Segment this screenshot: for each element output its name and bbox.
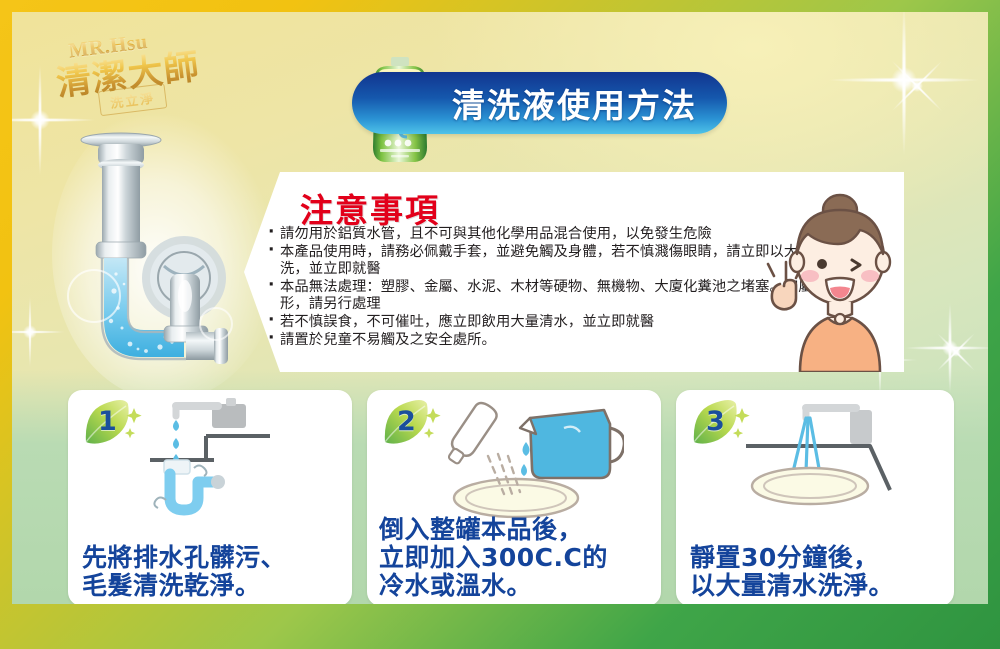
step-card-3[interactable]: 3 bbox=[676, 390, 954, 604]
step-card-1[interactable]: 1 bbox=[68, 390, 352, 604]
step-caption: 先將排水孔髒污、毛髮清洗乾淨。 bbox=[68, 544, 352, 600]
step-card-2[interactable]: 2 bbox=[367, 390, 661, 604]
steps-row: 1 bbox=[68, 390, 954, 604]
poster-root: MR.Hsu 清潔大師 洗立淨 bbox=[0, 0, 1000, 649]
pointing-woman-icon bbox=[764, 188, 914, 372]
p-trap-pipe-icon bbox=[64, 116, 269, 391]
step-caption: 倒入整罐本品後，立即加入300C.C的冷水或溫水。 bbox=[367, 516, 661, 600]
drain-faucet-icon bbox=[68, 394, 352, 524]
rinse-faucet-icon bbox=[676, 394, 954, 524]
banner-title: 清洗液使用方法 bbox=[352, 72, 727, 134]
poster-stage: MR.Hsu 清潔大師 洗立淨 bbox=[12, 12, 988, 604]
section-banner: 清洗液使用方法 bbox=[352, 72, 727, 134]
notice-title: 注意事項 bbox=[300, 184, 440, 232]
step-caption: 靜置30分鐘後，以大量清水洗淨。 bbox=[676, 544, 954, 600]
pour-bottle-pitcher-icon bbox=[367, 394, 661, 524]
